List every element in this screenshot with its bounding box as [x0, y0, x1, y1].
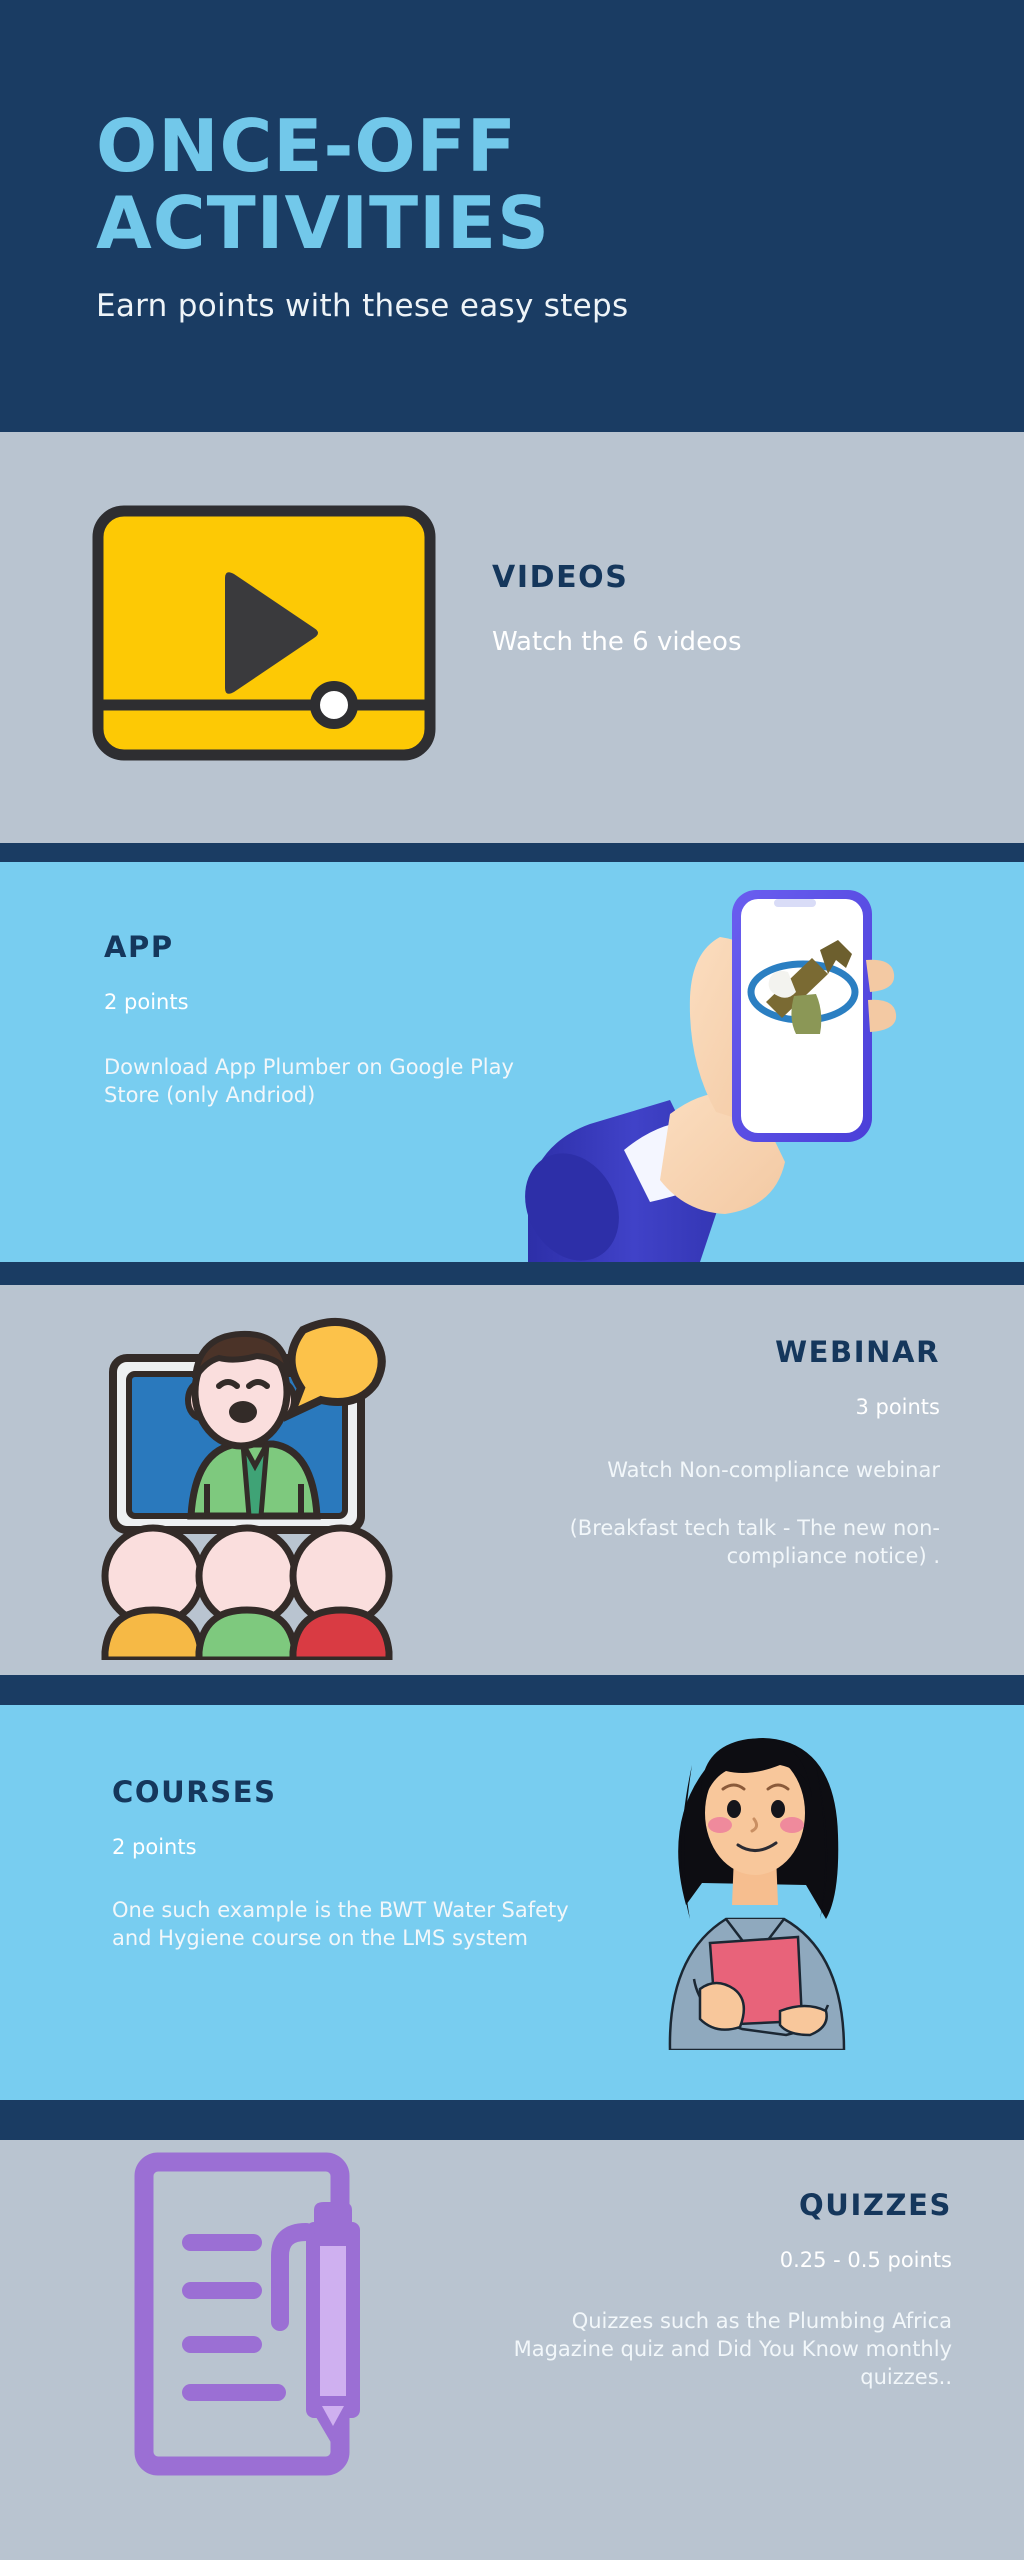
webinar-presenter-icon	[95, 1300, 415, 1660]
quiz-document-pencil-icon	[128, 2150, 398, 2480]
courses-points: 2 points	[112, 1835, 572, 1859]
section-webinar: WEBINAR 3 points Watch Non-compliance we…	[0, 1285, 1024, 1675]
app-title: APP	[104, 930, 524, 964]
section-quizzes: QUIZZES 0.25 - 0.5 points Quizzes such a…	[0, 2140, 1024, 2560]
courses-description: One such example is the BWT Water Safety…	[112, 1897, 572, 1953]
video-player-icon	[92, 505, 436, 761]
section-app: APP 2 points Download App Plumber on Goo…	[0, 862, 1024, 1262]
section-courses: COURSES 2 points One such example is the…	[0, 1705, 1024, 2100]
webinar-text-block: WEBINAR 3 points Watch Non-compliance we…	[480, 1335, 940, 1571]
quizzes-points: 0.25 - 0.5 points	[510, 2248, 952, 2272]
app-description: Download App Plumber on Google Play Stor…	[104, 1054, 524, 1110]
section-divider-1	[0, 843, 1024, 862]
webinar-title: WEBINAR	[480, 1335, 940, 1369]
courses-text-block: COURSES 2 points One such example is the…	[112, 1775, 572, 1953]
webinar-description: Watch Non-compliance webinar	[480, 1457, 940, 1485]
header-banner: ONCE-OFF ACTIVITIES Earn points with the…	[0, 0, 1024, 432]
webinar-points: 3 points	[480, 1395, 940, 1419]
videos-title: VIDEOS	[492, 560, 952, 595]
section-divider-4	[0, 2100, 1024, 2140]
student-with-book-icon	[630, 1705, 880, 2050]
infographic-page: ONCE-OFF ACTIVITIES Earn points with the…	[0, 0, 1024, 2560]
webinar-description-secondary: (Breakfast tech talk - The new non-compl…	[480, 1515, 940, 1571]
page-title: ONCE-OFF ACTIVITIES	[96, 108, 928, 262]
videos-description: Watch the 6 videos	[492, 627, 952, 657]
section-divider-3	[0, 1675, 1024, 1705]
courses-title: COURSES	[112, 1775, 572, 1809]
page-subtitle: Earn points with these easy steps	[96, 288, 928, 324]
app-points: 2 points	[104, 990, 524, 1014]
quizzes-text-block: QUIZZES 0.25 - 0.5 points Quizzes such a…	[510, 2188, 952, 2392]
section-videos: VIDEOS Watch the 6 videos	[0, 432, 1024, 843]
quizzes-description: Quizzes such as the Plumbing Africa Maga…	[510, 2308, 952, 2392]
app-text-block: APP 2 points Download App Plumber on Goo…	[104, 930, 524, 1110]
quizzes-title: QUIZZES	[510, 2188, 952, 2222]
section-divider-2	[0, 1262, 1024, 1285]
videos-text-block: VIDEOS Watch the 6 videos	[492, 560, 952, 657]
phone-in-hand-icon	[520, 862, 900, 1262]
